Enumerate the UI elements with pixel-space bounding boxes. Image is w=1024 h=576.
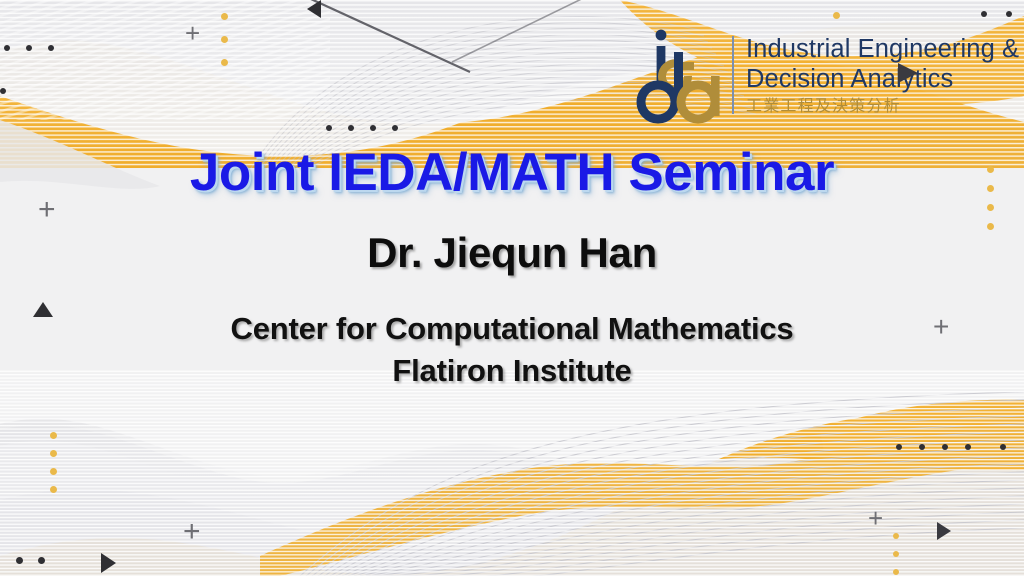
affiliation-line-2: Flatiron Institute [0,350,1024,392]
decor-dot [4,45,10,51]
decor-dot [896,444,902,450]
decor-dot [48,45,54,51]
decor-dot-gold [987,166,994,173]
decor-plus-mark: + [185,20,200,46]
bottom-wave-group [0,370,1024,576]
speaker-affiliation: Center for Computational Mathematics Fla… [0,308,1024,392]
cursor-arrow-icon [896,62,922,84]
decor-dot [965,444,971,450]
decor-plus-mark: + [38,195,56,225]
decor-triangle-right [101,553,116,573]
decor-plus-mark: + [933,313,949,341]
speaker-name: Dr. Jiequn Han [0,228,1024,278]
decor-plus-mark: + [868,505,883,531]
affiliation-line-1: Center for Computational Mathematics [231,311,794,346]
ieda-monogram-icon [636,26,728,124]
logo-wordmark: Industrial Engineering & Decision Analyt… [746,34,1019,117]
seminar-announcement-slide: Industrial Engineering & Decision Analyt… [0,0,1024,576]
decor-dot-gold [987,185,994,192]
page-title: Joint IEDA/MATH Seminar [0,143,1024,203]
decor-dot-gold [893,551,899,557]
decor-dot [16,557,23,564]
decor-dot [392,125,398,131]
decor-dot [1006,11,1012,17]
decor-dot-gold [50,450,57,457]
decor-dot [348,125,354,131]
decor-dot [26,45,32,51]
decor-dot-gold [50,468,57,475]
logo-chinese-line: 工業工程及決策分析 [746,95,1019,117]
logo-divider [732,36,734,114]
decor-dot [370,125,376,131]
logo-english-line-2: Decision Analytics [746,64,1019,94]
decor-dot-gold [893,569,899,575]
decor-dot-gold [893,533,899,539]
decor-dot-gold [221,13,228,20]
decor-dot [326,125,332,131]
decor-dot-gold [50,486,57,493]
decor-dot [38,557,45,564]
decor-plus-mark: + [183,517,201,547]
decor-dot-gold [987,223,994,230]
decor-dot-gold [987,204,994,211]
decor-dot [981,11,987,17]
decor-dot-gold [221,36,228,43]
decor-dot-gold [50,432,57,439]
logo-english-line-1: Industrial Engineering & [746,34,1019,64]
ieda-logo: Industrial Engineering & Decision Analyt… [636,26,1019,124]
decor-dot [1000,444,1006,450]
decor-dot [0,88,6,94]
decor-triangle-right [937,522,951,540]
decor-dot-gold [221,59,228,66]
decor-dot [942,444,948,450]
decor-triangle-left [307,0,321,18]
decor-dot-gold [833,12,840,19]
decor-dot [919,444,925,450]
decor-triangle-up [33,302,53,317]
